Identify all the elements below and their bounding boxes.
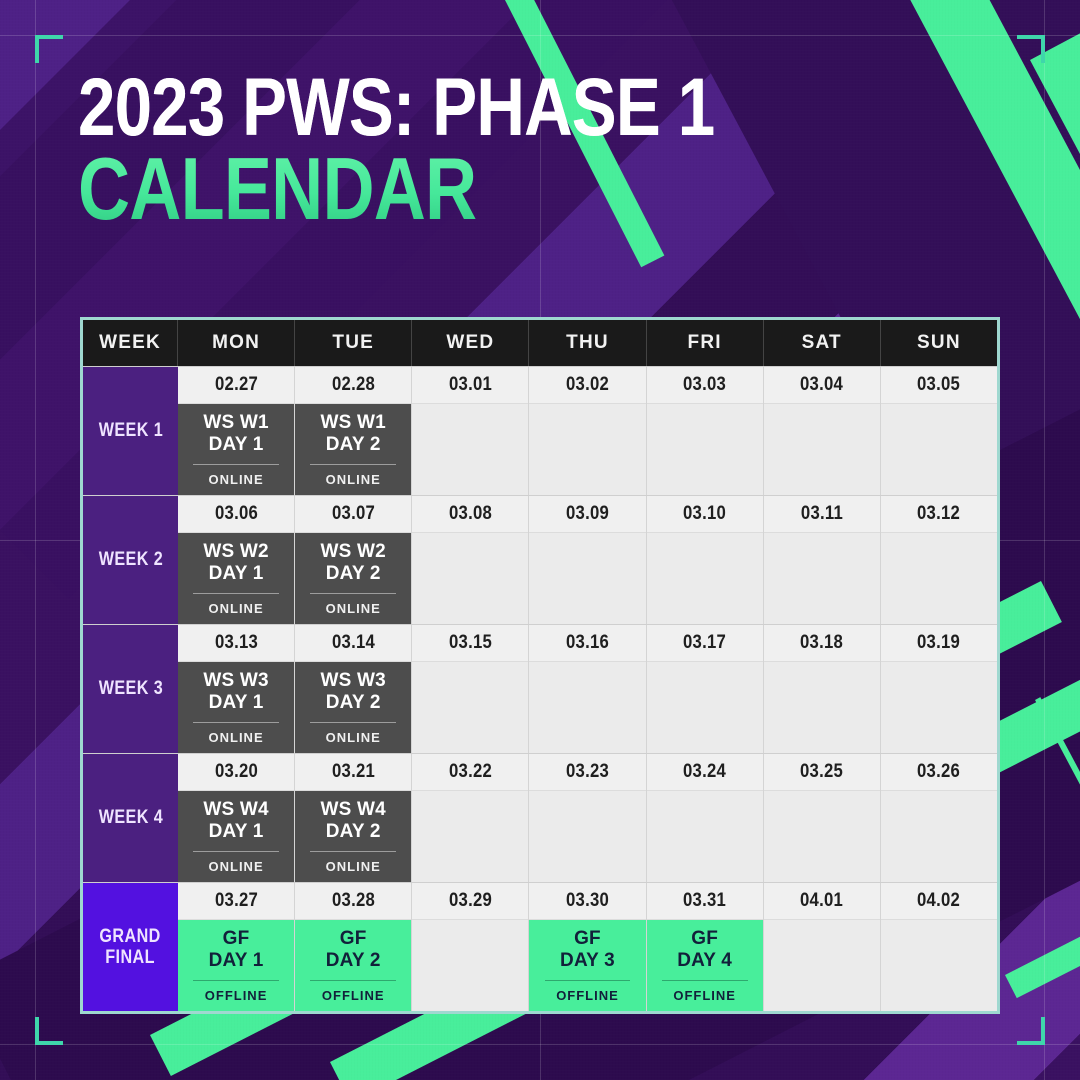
empty-slot — [764, 533, 880, 624]
empty-slot — [412, 920, 528, 1011]
week-label-cell: WEEK 1 — [83, 367, 178, 495]
empty-slot — [881, 533, 997, 624]
event-mode-badge: ONLINE — [326, 472, 381, 487]
empty-slot — [647, 404, 763, 495]
date-label: 03.13 — [178, 625, 294, 662]
date-text: 03.04 — [800, 374, 843, 396]
day-cell: 03.01 — [412, 367, 529, 495]
day-cell: 03.28GFDAY 2OFFLINE — [295, 883, 412, 1011]
date-text: 03.21 — [332, 761, 375, 783]
date-text: 03.02 — [566, 374, 609, 396]
empty-slot — [881, 791, 997, 882]
date-label: 03.26 — [881, 754, 997, 791]
date-label: 03.01 — [412, 367, 528, 404]
event-title: WS W1DAY 2 — [321, 412, 386, 456]
date-label: 03.04 — [764, 367, 880, 404]
date-label: 03.21 — [295, 754, 411, 791]
event-title: GFDAY 1 — [209, 928, 264, 972]
event-divider — [193, 722, 279, 723]
day-cell: 03.22 — [412, 754, 529, 882]
event-divider — [310, 980, 396, 981]
week-label-line: WEEK 2 — [98, 549, 162, 570]
table-row: WEEK 102.27WS W1DAY 1ONLINE02.28WS W1DAY… — [83, 366, 997, 495]
day-cell: 02.27WS W1DAY 1ONLINE — [178, 367, 295, 495]
date-label: 03.22 — [412, 754, 528, 791]
date-label: 04.02 — [881, 883, 997, 920]
day-cell: 03.07WS W2DAY 2ONLINE — [295, 496, 412, 624]
empty-slot — [529, 791, 645, 882]
date-text: 03.31 — [683, 890, 726, 912]
week-days-group: 03.27GFDAY 1OFFLINE03.28GFDAY 2OFFLINE03… — [178, 883, 997, 1011]
date-label: 03.25 — [764, 754, 880, 791]
date-text: 03.12 — [917, 503, 960, 525]
event-block[interactable]: WS W3DAY 1ONLINE — [178, 662, 294, 753]
day-cell: 03.25 — [764, 754, 881, 882]
column-header-wed: WED — [412, 320, 529, 366]
date-label: 03.10 — [647, 496, 763, 533]
date-label: 03.07 — [295, 496, 411, 533]
event-day: DAY 1 — [203, 434, 268, 456]
event-day: DAY 1 — [203, 821, 268, 843]
date-text: 03.19 — [917, 632, 960, 654]
event-divider — [310, 851, 396, 852]
date-text: 03.15 — [449, 632, 492, 654]
date-label: 03.30 — [529, 883, 645, 920]
empty-slot — [647, 791, 763, 882]
event-name: WS W2 — [203, 541, 268, 563]
empty-slot — [412, 533, 528, 624]
date-text: 03.24 — [683, 761, 726, 783]
event-name: GF — [677, 928, 732, 950]
week-label-line: WEEK 4 — [98, 807, 162, 828]
corner-bracket-top-right-icon — [1017, 35, 1045, 63]
week-label-line: GRAND — [100, 926, 161, 947]
day-cell: 03.23 — [529, 754, 646, 882]
event-title: WS W2DAY 2 — [321, 541, 386, 585]
empty-slot — [881, 920, 997, 1011]
column-header-fri: FRI — [647, 320, 764, 366]
date-label: 03.20 — [178, 754, 294, 791]
event-day: DAY 4 — [677, 950, 732, 972]
date-label: 03.03 — [647, 367, 763, 404]
empty-slot — [764, 920, 880, 1011]
date-label: 03.19 — [881, 625, 997, 662]
week-days-group: 02.27WS W1DAY 1ONLINE02.28WS W1DAY 2ONLI… — [178, 367, 997, 495]
column-header-mon: MON — [178, 320, 295, 366]
table-row: WEEK 203.06WS W2DAY 1ONLINE03.07WS W2DAY… — [83, 495, 997, 624]
day-cell: 03.12 — [881, 496, 997, 624]
date-text: 03.17 — [683, 632, 726, 654]
date-text: 03.01 — [449, 374, 492, 396]
date-text: 03.30 — [566, 890, 609, 912]
event-divider — [545, 980, 631, 981]
day-cell: 03.27GFDAY 1OFFLINE — [178, 883, 295, 1011]
event-name: GF — [560, 928, 615, 950]
day-cell: 03.31GFDAY 4OFFLINE — [647, 883, 764, 1011]
event-day: DAY 3 — [560, 950, 615, 972]
date-label: 03.14 — [295, 625, 411, 662]
date-label: 03.11 — [764, 496, 880, 533]
corner-bracket-bottom-left-icon — [35, 1017, 63, 1045]
week-label-line: WEEK 1 — [98, 420, 162, 441]
empty-slot — [881, 404, 997, 495]
date-text: 02.27 — [214, 374, 257, 396]
column-header-sun: SUN — [881, 320, 997, 366]
date-label: 02.27 — [178, 367, 294, 404]
event-day: DAY 2 — [321, 563, 386, 585]
date-label: 03.16 — [529, 625, 645, 662]
event-divider — [193, 851, 279, 852]
event-block[interactable]: GFDAY 4OFFLINE — [647, 920, 763, 1011]
empty-slot — [412, 791, 528, 882]
date-label: 02.28 — [295, 367, 411, 404]
event-block[interactable]: GFDAY 2OFFLINE — [295, 920, 411, 1011]
title-line-secondary: CALENDAR — [78, 150, 714, 227]
date-text: 03.27 — [214, 890, 257, 912]
date-text: 03.09 — [566, 503, 609, 525]
event-name: WS W3 — [321, 670, 386, 692]
date-text: 03.26 — [917, 761, 960, 783]
date-label: 03.27 — [178, 883, 294, 920]
event-block[interactable]: WS W4DAY 2ONLINE — [295, 791, 411, 882]
event-day: DAY 1 — [203, 563, 268, 585]
day-cell: 03.05 — [881, 367, 997, 495]
event-name: WS W1 — [203, 412, 268, 434]
event-title: WS W1DAY 1 — [203, 412, 268, 456]
date-text: 03.08 — [449, 503, 492, 525]
date-label: 03.17 — [647, 625, 763, 662]
date-text: 04.02 — [917, 890, 960, 912]
day-cell: 03.11 — [764, 496, 881, 624]
event-name: WS W4 — [203, 799, 268, 821]
event-day: DAY 2 — [321, 692, 386, 714]
empty-slot — [647, 533, 763, 624]
date-text: 02.28 — [332, 374, 375, 396]
date-text: 03.18 — [800, 632, 843, 654]
date-text: 03.29 — [449, 890, 492, 912]
day-cell: 03.26 — [881, 754, 997, 882]
week-label-line: FINAL — [100, 947, 161, 968]
day-cell: 03.06WS W2DAY 1ONLINE — [178, 496, 295, 624]
day-cell: 03.29 — [412, 883, 529, 1011]
week-label-cell: WEEK 3 — [83, 625, 178, 753]
day-cell: 03.16 — [529, 625, 646, 753]
day-cell: 03.19 — [881, 625, 997, 753]
column-header-thu: THU — [529, 320, 646, 366]
date-text: 03.11 — [801, 503, 843, 525]
day-cell: 03.17 — [647, 625, 764, 753]
date-text: 04.01 — [800, 890, 843, 912]
date-text: 03.05 — [917, 374, 960, 396]
day-cell: 03.15 — [412, 625, 529, 753]
event-title: WS W4DAY 1 — [203, 799, 268, 843]
date-text: 03.13 — [214, 632, 257, 654]
column-header-sat: SAT — [764, 320, 881, 366]
empty-slot — [529, 533, 645, 624]
event-block[interactable]: GFDAY 1OFFLINE — [178, 920, 294, 1011]
event-block[interactable]: GFDAY 3OFFLINE — [529, 920, 645, 1011]
empty-slot — [764, 404, 880, 495]
date-label: 03.08 — [412, 496, 528, 533]
empty-slot — [881, 662, 997, 753]
week-days-group: 03.20WS W4DAY 1ONLINE03.21WS W4DAY 2ONLI… — [178, 754, 997, 882]
event-block[interactable]: WS W3DAY 2ONLINE — [295, 662, 411, 753]
empty-slot — [412, 404, 528, 495]
day-cell: 03.09 — [529, 496, 646, 624]
empty-slot — [764, 662, 880, 753]
event-name: GF — [326, 928, 381, 950]
date-text: 03.14 — [332, 632, 375, 654]
event-title: GFDAY 4 — [677, 928, 732, 972]
empty-slot — [412, 662, 528, 753]
day-cell: 03.03 — [647, 367, 764, 495]
event-day: DAY 2 — [326, 950, 381, 972]
page-title: 2023 PWS: PHASE 1 CALENDAR — [78, 72, 854, 228]
event-mode-badge: ONLINE — [209, 472, 264, 487]
day-cell: 02.28WS W1DAY 2ONLINE — [295, 367, 412, 495]
day-cell: 03.14WS W3DAY 2ONLINE — [295, 625, 412, 753]
event-mode-badge: OFFLINE — [205, 988, 268, 1003]
table-row: GRANDFINAL03.27GFDAY 1OFFLINE03.28GFDAY … — [83, 882, 997, 1011]
table-header-row: WEEKMONTUEWEDTHUFRISATSUN — [83, 320, 997, 366]
date-label: 03.05 — [881, 367, 997, 404]
event-day: DAY 1 — [209, 950, 264, 972]
date-label: 03.18 — [764, 625, 880, 662]
event-name: WS W3 — [203, 670, 268, 692]
date-text: 03.28 — [332, 890, 375, 912]
event-divider — [193, 464, 279, 465]
event-block[interactable]: WS W4DAY 1ONLINE — [178, 791, 294, 882]
day-cell: 03.13WS W3DAY 1ONLINE — [178, 625, 295, 753]
column-header-tue: TUE — [295, 320, 412, 366]
date-text: 03.25 — [800, 761, 843, 783]
table-row: WEEK 403.20WS W4DAY 1ONLINE03.21WS W4DAY… — [83, 753, 997, 882]
schedule-table: WEEKMONTUEWEDTHUFRISATSUN WEEK 102.27WS … — [80, 317, 1000, 1014]
event-block[interactable]: WS W2DAY 1ONLINE — [178, 533, 294, 624]
week-days-group: 03.13WS W3DAY 1ONLINE03.14WS W3DAY 2ONLI… — [178, 625, 997, 753]
empty-slot — [529, 662, 645, 753]
event-mode-badge: OFFLINE — [673, 988, 736, 1003]
day-cell: 03.20WS W4DAY 1ONLINE — [178, 754, 295, 882]
corner-bracket-bottom-right-icon — [1017, 1017, 1045, 1045]
event-mode-badge: ONLINE — [209, 730, 264, 745]
date-text: 03.03 — [683, 374, 726, 396]
event-title: WS W3DAY 1 — [203, 670, 268, 714]
date-label: 03.31 — [647, 883, 763, 920]
date-text: 03.06 — [214, 503, 257, 525]
event-day: DAY 2 — [321, 434, 386, 456]
event-name: GF — [209, 928, 264, 950]
day-cell: 03.21WS W4DAY 2ONLINE — [295, 754, 412, 882]
day-cell: 03.18 — [764, 625, 881, 753]
event-divider — [662, 980, 748, 981]
day-cell: 03.24 — [647, 754, 764, 882]
event-divider — [193, 980, 279, 981]
poster-canvas: 2023 PWS: PHASE 1 CALENDAR WEEKMONTUEWED… — [0, 0, 1080, 1080]
event-title: GFDAY 2 — [326, 928, 381, 972]
event-block[interactable]: WS W1DAY 1ONLINE — [178, 404, 294, 495]
week-label-cell: GRANDFINAL — [83, 883, 178, 1011]
date-text: 03.22 — [449, 761, 492, 783]
date-label: 03.02 — [529, 367, 645, 404]
week-label-cell: WEEK 2 — [83, 496, 178, 624]
event-mode-badge: OFFLINE — [556, 988, 619, 1003]
date-text: 03.20 — [214, 761, 257, 783]
day-cell: 03.08 — [412, 496, 529, 624]
empty-slot — [529, 404, 645, 495]
date-label: 03.09 — [529, 496, 645, 533]
title-line-primary: 2023 PWS: PHASE 1 — [78, 72, 714, 144]
day-cell: 03.10 — [647, 496, 764, 624]
event-title: WS W2DAY 1 — [203, 541, 268, 585]
day-cell: 03.04 — [764, 367, 881, 495]
date-label: 03.15 — [412, 625, 528, 662]
event-mode-badge: ONLINE — [209, 859, 264, 874]
event-mode-badge: ONLINE — [326, 859, 381, 874]
empty-slot — [764, 791, 880, 882]
week-label-line: WEEK 3 — [98, 678, 162, 699]
table-body: WEEK 102.27WS W1DAY 1ONLINE02.28WS W1DAY… — [83, 366, 997, 1011]
day-cell: 03.30GFDAY 3OFFLINE — [529, 883, 646, 1011]
event-title: GFDAY 3 — [560, 928, 615, 972]
event-divider — [310, 722, 396, 723]
event-block[interactable]: WS W1DAY 2ONLINE — [295, 404, 411, 495]
event-name: WS W4 — [321, 799, 386, 821]
date-label: 03.28 — [295, 883, 411, 920]
column-header-week: WEEK — [83, 320, 178, 366]
event-title: WS W3DAY 2 — [321, 670, 386, 714]
date-label: 03.29 — [412, 883, 528, 920]
corner-bracket-top-left-icon — [35, 35, 63, 63]
event-day: DAY 2 — [321, 821, 386, 843]
date-text: 03.07 — [332, 503, 375, 525]
day-cell: 04.02 — [881, 883, 997, 1011]
event-divider — [193, 593, 279, 594]
event-divider — [310, 464, 396, 465]
date-text: 03.16 — [566, 632, 609, 654]
day-cell: 03.02 — [529, 367, 646, 495]
date-text: 03.23 — [566, 761, 609, 783]
date-label: 03.23 — [529, 754, 645, 791]
event-divider — [310, 593, 396, 594]
week-label-cell: WEEK 4 — [83, 754, 178, 882]
date-text: 03.10 — [683, 503, 726, 525]
event-mode-badge: ONLINE — [326, 601, 381, 616]
table-row: WEEK 303.13WS W3DAY 1ONLINE03.14WS W3DAY… — [83, 624, 997, 753]
event-day: DAY 1 — [203, 692, 268, 714]
date-label: 03.24 — [647, 754, 763, 791]
date-label: 03.06 — [178, 496, 294, 533]
event-mode-badge: OFFLINE — [322, 988, 385, 1003]
event-mode-badge: ONLINE — [326, 730, 381, 745]
event-mode-badge: ONLINE — [209, 601, 264, 616]
date-label: 04.01 — [764, 883, 880, 920]
date-label: 03.12 — [881, 496, 997, 533]
event-title: WS W4DAY 2 — [321, 799, 386, 843]
empty-slot — [647, 662, 763, 753]
event-name: WS W1 — [321, 412, 386, 434]
event-name: WS W2 — [321, 541, 386, 563]
day-cell: 04.01 — [764, 883, 881, 1011]
week-days-group: 03.06WS W2DAY 1ONLINE03.07WS W2DAY 2ONLI… — [178, 496, 997, 624]
event-block[interactable]: WS W2DAY 2ONLINE — [295, 533, 411, 624]
